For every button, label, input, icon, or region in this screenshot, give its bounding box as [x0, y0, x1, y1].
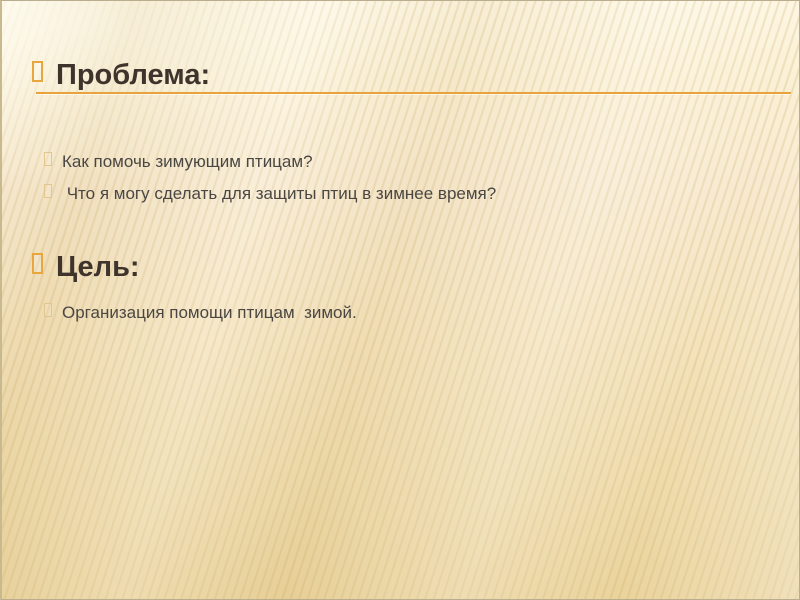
list-item-goal-statement[interactable]: Организация помощи птицам зимой.	[44, 304, 357, 321]
slide-content: Проблема: Как помочь зимующим птицам? Чт…	[2, 1, 799, 599]
presentation-slide: Проблема: Как помочь зимующим птицам? Чт…	[0, 0, 800, 600]
heading-row-problem[interactable]: Проблема:	[32, 61, 210, 90]
heading-goal: Цель:	[56, 253, 140, 282]
list-item-question-1[interactable]: Как помочь зимующим птицам?	[44, 153, 313, 170]
heading-problem: Проблема:	[56, 61, 210, 90]
bullet-box-icon	[32, 253, 43, 274]
bullet-box-icon	[32, 61, 43, 82]
body-text-question-2: Что я могу сделать для защиты птиц в зим…	[62, 185, 496, 202]
bullet-box-icon	[44, 152, 52, 166]
body-text-goal-statement: Организация помощи птицам зимой.	[62, 304, 357, 321]
list-item-question-2[interactable]: Что я могу сделать для защиты птиц в зим…	[44, 185, 496, 202]
bullet-box-icon	[44, 303, 52, 317]
bullet-box-icon	[44, 184, 52, 198]
body-text-question-1: Как помочь зимующим птицам?	[62, 153, 313, 170]
heading-underline-problem	[36, 92, 791, 94]
heading-row-goal[interactable]: Цель:	[32, 253, 140, 282]
